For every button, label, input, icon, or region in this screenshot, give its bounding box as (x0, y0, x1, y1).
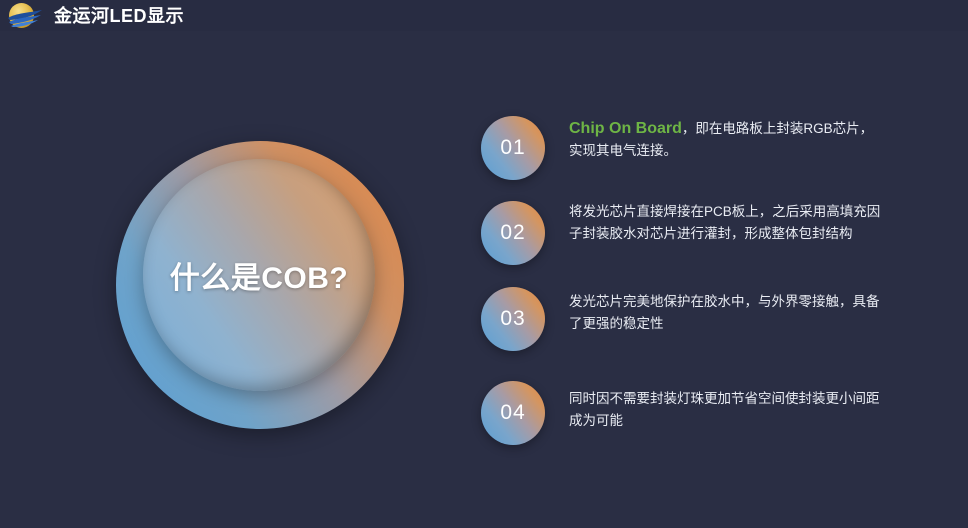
list-item-text-03: 发光芯片完美地保护在胶水中，与外界零接触，具备了更强的稳定性 (569, 287, 881, 335)
list-item-text-01: Chip On Board，即在电路板上封装RGB芯片，实现其电气连接。 (569, 116, 881, 162)
step-badge-04: 04 (481, 381, 545, 445)
list-item: 01 Chip On Board，即在电路板上封装RGB芯片，实现其电气连接。 (481, 116, 881, 180)
sun-wave-logo-icon (6, 1, 44, 31)
logo-wave-shape (6, 5, 44, 29)
list-item-text-04: 同时因不需要封装灯珠更加节省空间使封装更小间距成为可能 (569, 381, 881, 432)
list-item: 03 发光芯片完美地保护在胶水中，与外界零接触，具备了更强的稳定性 (481, 287, 881, 351)
hero-title: 什么是COB? (170, 253, 349, 297)
app-header: 金运河LED显示 (0, 0, 968, 31)
list-item: 04 同时因不需要封装灯珠更加节省空间使封装更小间距成为可能 (481, 381, 881, 445)
list-item-body-04: 同时因不需要封装灯珠更加节省空间使封装更小间距成为可能 (569, 391, 880, 428)
list-item-body-02: 将发光芯片直接焊接在PCB板上，之后采用高填充因子封装胶水对芯片进行灌封，形成整… (569, 204, 880, 241)
hero-circle-group: 什么是COB? (116, 141, 404, 429)
list-item-accent-01: Chip On Board (569, 120, 682, 137)
step-badge-02: 02 (481, 201, 545, 265)
hero-inner-circle: 什么是COB? (143, 159, 375, 391)
list-item-text-02: 将发光芯片直接焊接在PCB板上，之后采用高填充因子封装胶水对芯片进行灌封，形成整… (569, 201, 881, 245)
list-item-body-03: 发光芯片完美地保护在胶水中，与外界零接触，具备了更强的稳定性 (569, 294, 880, 331)
step-badge-01: 01 (481, 116, 545, 180)
brand-title: 金运河LED显示 (54, 7, 184, 25)
step-badge-03: 03 (481, 287, 545, 351)
list-item: 02 将发光芯片直接焊接在PCB板上，之后采用高填充因子封装胶水对芯片进行灌封，… (481, 201, 881, 265)
